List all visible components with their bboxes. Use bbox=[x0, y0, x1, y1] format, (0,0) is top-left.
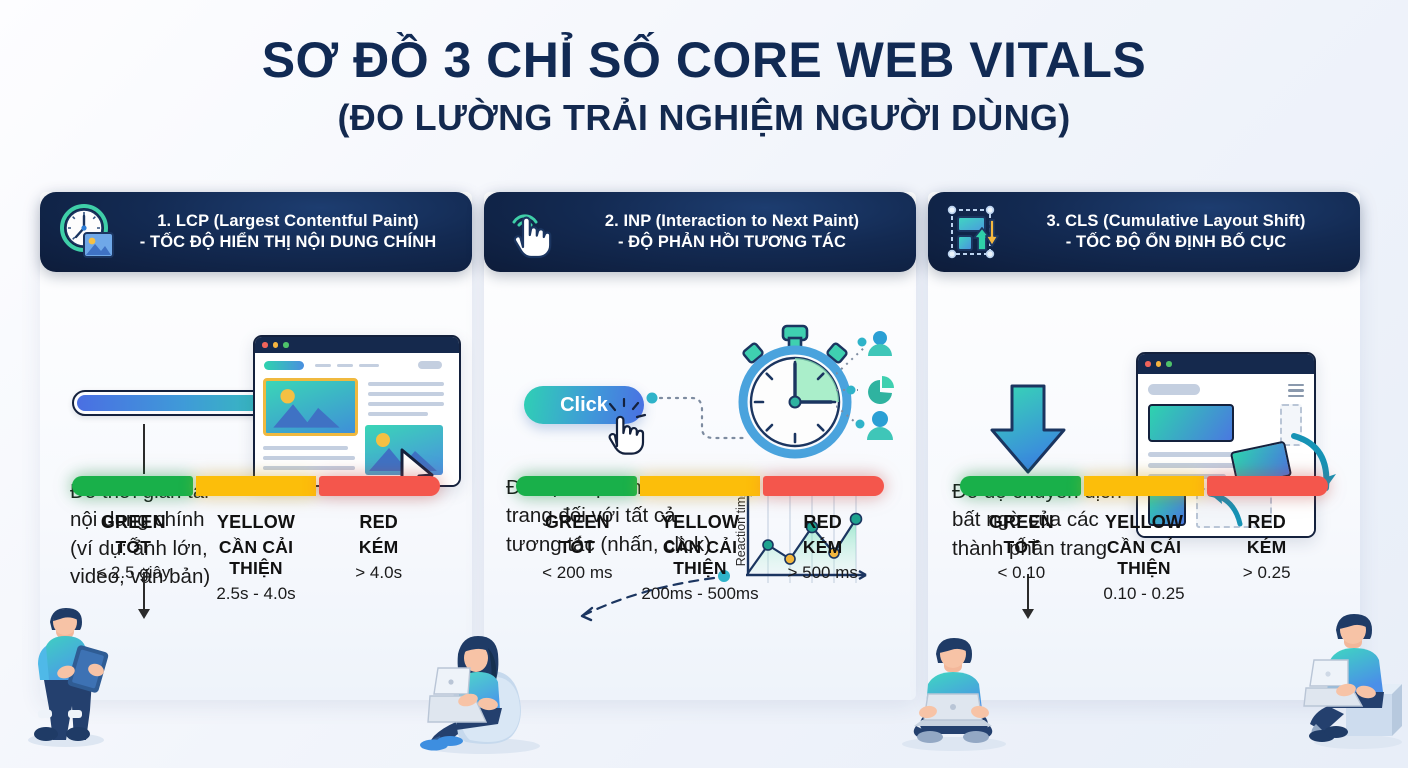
cls-hero-block bbox=[1148, 404, 1234, 442]
threshold-segment-yellow bbox=[640, 476, 761, 496]
window-minimize-dot bbox=[273, 342, 279, 348]
connector-line-lcp bbox=[143, 424, 145, 474]
click-button-label: Click bbox=[560, 394, 608, 417]
hamburger-menu-icon[interactable] bbox=[1288, 384, 1304, 397]
card-inp-subtitle: - ĐỘ PHẢN HỒI TƯƠNG TÁC bbox=[562, 232, 902, 253]
man-on-cube-laptop bbox=[1302, 598, 1408, 750]
card-inp-title: 2. INP (Interaction to Next Paint) bbox=[562, 211, 902, 232]
lcp-hero-image bbox=[263, 378, 358, 436]
threshold-yellow: YELLOW CẦN CẢI THIỆN 2.5s - 4.0s bbox=[195, 512, 318, 604]
tap-hand-icon bbox=[498, 200, 562, 264]
threshold-segment-yellow bbox=[1084, 476, 1205, 496]
threshold-red: RED KÉM > 0.25 bbox=[1205, 512, 1328, 604]
threshold-segment-yellow bbox=[196, 476, 317, 496]
threshold-green: GREEN TỐT < 0.10 bbox=[960, 512, 1083, 604]
man-sitting-crosslegged-laptop bbox=[888, 620, 1018, 752]
layout-shift-down-arrow-icon bbox=[982, 382, 1074, 476]
cards-container: 1. LCP (Largest Contentful Paint) - TỐC … bbox=[40, 192, 1368, 700]
card-cls-header-text: 3. CLS (Cumulative Layout Shift) - TỐC Đ… bbox=[1006, 211, 1352, 253]
window-maximize-dot bbox=[283, 342, 289, 348]
card-lcp-subtitle: - TỐC ĐỘ HIỂN THỊ NỘI DUNG CHÍNH bbox=[118, 232, 458, 253]
cls-thresholds: GREEN TỐT < 0.10 YELLOW CẦN CẢI THIỆN 0.… bbox=[960, 476, 1328, 604]
clock-image-icon bbox=[54, 200, 118, 264]
browser-titlebar bbox=[1138, 354, 1314, 374]
inp-threshold-bar bbox=[516, 476, 884, 496]
window-close-dot bbox=[262, 342, 268, 348]
page-title-block: SƠ ĐỒ 3 CHỈ SỐ CORE WEB VITALS (ĐO LƯỜNG… bbox=[0, 34, 1408, 139]
card-cls-title: 3. CLS (Cumulative Layout Shift) bbox=[1006, 211, 1346, 232]
card-lcp-header: 1. LCP (Largest Contentful Paint) - TỐC … bbox=[40, 192, 472, 272]
card-inp-header-text: 2. INP (Interaction to Next Paint) - ĐỘ … bbox=[562, 211, 908, 253]
window-maximize-dot bbox=[1166, 361, 1172, 367]
threshold-segment-red bbox=[1207, 476, 1328, 496]
card-cls-subtitle: - TỐC ĐỘ ỔN ĐỊNH BỐ CỤC bbox=[1006, 232, 1346, 253]
page-title: SƠ ĐỒ 3 CHỈ SỐ CORE WEB VITALS bbox=[0, 34, 1408, 87]
window-close-dot bbox=[1145, 361, 1151, 367]
card-lcp-title: 1. LCP (Largest Contentful Paint) bbox=[118, 211, 458, 232]
browser-titlebar bbox=[255, 337, 459, 353]
threshold-green: GREEN TỐT < 200 ms bbox=[516, 512, 639, 604]
card-lcp-header-text: 1. LCP (Largest Contentful Paint) - TỐC … bbox=[118, 211, 464, 253]
threshold-yellow: YELLOW CẦN CẢI THIỆN 200ms - 500ms bbox=[639, 512, 762, 604]
threshold-red: RED KÉM > 4.0s bbox=[317, 512, 440, 604]
threshold-segment-red bbox=[763, 476, 884, 496]
page-subtitle: (ĐO LƯỜNG TRẢI NGHIỆM NGƯỜI DÙNG) bbox=[0, 97, 1408, 139]
card-inp-header: 2. INP (Interaction to Next Paint) - ĐỘ … bbox=[484, 192, 916, 272]
threshold-red: RED KÉM > 500 ms bbox=[761, 512, 884, 604]
threshold-segment-green bbox=[960, 476, 1081, 496]
threshold-yellow: YELLOW CẦN CẢI THIỆN 0.10 - 0.25 bbox=[1083, 512, 1206, 604]
inp-thresholds: GREEN TỐT < 200 ms YELLOW CẦN CẢI THIỆN … bbox=[516, 476, 884, 604]
threshold-segment-red bbox=[319, 476, 440, 496]
man-standing-tablet bbox=[8, 588, 118, 748]
lcp-threshold-bar bbox=[72, 476, 440, 496]
cls-threshold-bar bbox=[960, 476, 1328, 496]
layout-shift-icon bbox=[942, 200, 1006, 264]
lcp-thresholds: GREEN TỐT < 2.5 giây YELLOW CẦN CẢI THIỆ… bbox=[72, 476, 440, 604]
card-cls-header: 3. CLS (Cumulative Layout Shift) - TỐC Đ… bbox=[928, 192, 1360, 272]
woman-beanbag-laptop bbox=[404, 614, 554, 754]
threshold-segment-green bbox=[516, 476, 637, 496]
users-group-icon bbox=[836, 328, 904, 458]
window-minimize-dot bbox=[1156, 361, 1162, 367]
threshold-segment-green bbox=[72, 476, 193, 496]
